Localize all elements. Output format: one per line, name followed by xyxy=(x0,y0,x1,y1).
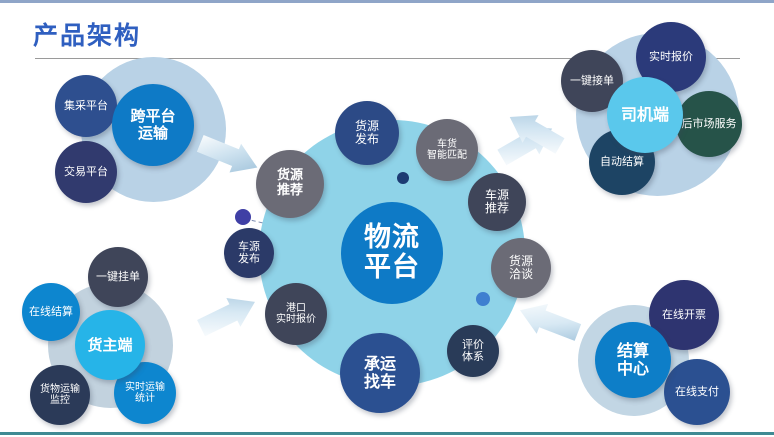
node-label: 承运 找车 xyxy=(364,355,396,391)
node-label: 车源 推荐 xyxy=(485,189,509,216)
node-label: 在线结算 xyxy=(29,306,73,318)
node-huoyuan-fabu[interactable]: 货源 发布 xyxy=(335,101,399,165)
node-chengyun-zhaoche[interactable]: 承运 找车 xyxy=(340,333,420,413)
node-label: 交易平台 xyxy=(64,166,108,178)
node-label: 货物运输 监控 xyxy=(40,384,80,406)
node-label: 一键挂单 xyxy=(96,271,140,283)
node-jiaoyi-pingtai[interactable]: 交易平台 xyxy=(55,141,117,203)
top-accent-bar xyxy=(0,0,774,3)
hub-label: 物流 平台 xyxy=(364,223,420,283)
node-label: 车货 智能匹配 xyxy=(427,139,467,161)
arrow-shipper-to-hub xyxy=(196,296,266,348)
page-title: 产品架构 xyxy=(33,16,141,52)
node-label: 货源 洽谈 xyxy=(509,255,533,282)
node-huoyuan-tuijian[interactable]: 货源 推荐 xyxy=(256,150,324,218)
hub-label: 司机端 xyxy=(621,106,669,124)
hub-settlement-center[interactable]: 结算 中心 xyxy=(595,322,671,398)
node-label: 货源 推荐 xyxy=(277,169,303,198)
node-label: 一键接单 xyxy=(570,75,614,87)
node-gangkou-shishi-baojia[interactable]: 港口 实时报价 xyxy=(265,283,327,345)
node-label: 在线开票 xyxy=(662,309,706,321)
hub-label: 跨平台 运输 xyxy=(130,108,175,142)
hub-driver-terminal[interactable]: 司机端 xyxy=(607,77,683,153)
hub-label: 货主端 xyxy=(87,337,132,354)
node-jicai-pingtai[interactable]: 集采平台 xyxy=(55,75,117,137)
accent-dot-blue xyxy=(476,292,490,306)
node-yijian-guadan[interactable]: 一键挂单 xyxy=(88,247,148,307)
hub-cross-platform-transport[interactable]: 跨平台 运输 xyxy=(112,84,194,166)
node-houshichang-fuwu[interactable]: 后市场服务 xyxy=(676,91,742,157)
node-huoyuan-qiatan[interactable]: 货源 洽谈 xyxy=(491,238,551,298)
node-zaixian-jiesuan[interactable]: 在线结算 xyxy=(22,283,80,341)
node-label: 后市场服务 xyxy=(682,118,737,130)
node-huowu-yunshu-jiankong[interactable]: 货物运输 监控 xyxy=(30,365,90,425)
hub-shipper-terminal[interactable]: 货主端 xyxy=(75,310,145,380)
slide-canvas: 产品架构 xyxy=(0,0,774,437)
node-label: 在线支付 xyxy=(675,386,719,398)
hub-label: 结算 中心 xyxy=(617,342,649,378)
node-cheyuan-tuijian[interactable]: 车源 推荐 xyxy=(468,173,526,231)
node-label: 自动结算 xyxy=(600,156,644,168)
arrow-driver-to-hub xyxy=(500,112,568,166)
node-label: 实时报价 xyxy=(649,51,693,63)
node-zaixian-zhifu[interactable]: 在线支付 xyxy=(664,359,730,425)
arrow-settlement-to-hub xyxy=(508,300,584,354)
node-chehuo-zhineng-pipei[interactable]: 车货 智能匹配 xyxy=(416,119,478,181)
node-cheyuan-fabu[interactable]: 车源 发布 xyxy=(224,228,274,278)
node-label: 货源 发布 xyxy=(355,120,379,147)
node-label: 港口 实时报价 xyxy=(276,303,316,325)
bottom-accent-bar xyxy=(0,432,774,435)
node-label: 车源 发布 xyxy=(238,241,260,266)
accent-dot-purple xyxy=(235,209,251,225)
node-label: 实时运输 统计 xyxy=(125,382,165,404)
hub-logistics-platform[interactable]: 物流 平台 xyxy=(341,202,443,304)
node-label: 评价 体系 xyxy=(462,339,484,364)
accent-dot-navy xyxy=(397,172,409,184)
node-pingjia-tixi[interactable]: 评价 体系 xyxy=(447,325,499,377)
node-label: 集采平台 xyxy=(64,100,108,112)
